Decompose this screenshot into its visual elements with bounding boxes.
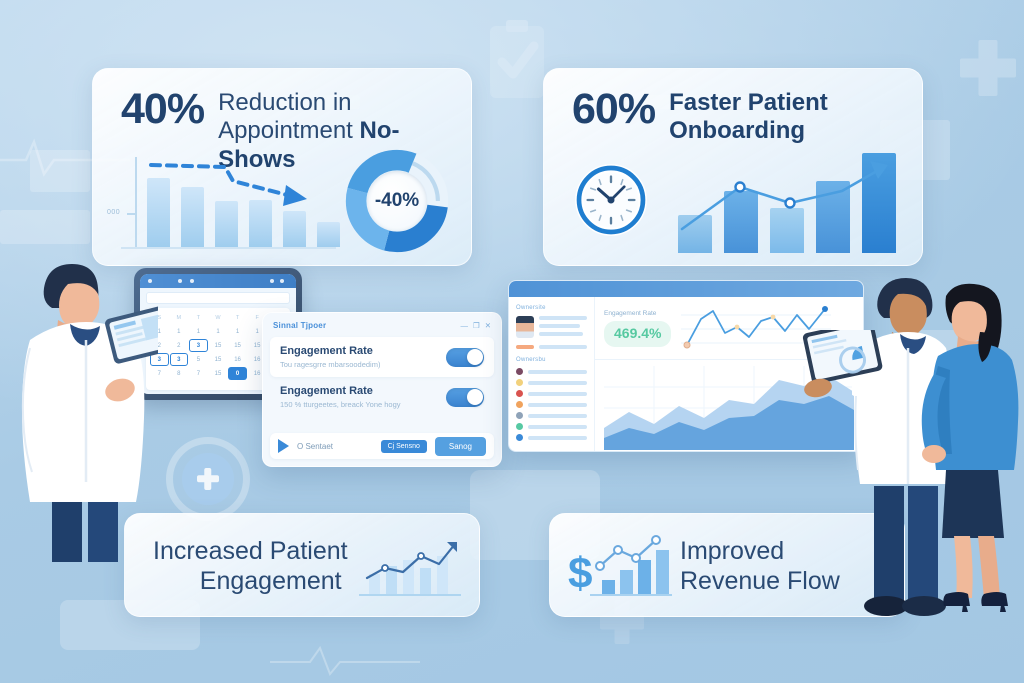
legend-color-dot xyxy=(516,401,523,408)
legend-label-placeholder xyxy=(528,414,587,418)
chart-x-axis xyxy=(121,247,336,249)
stat-line-1: Reduction in xyxy=(218,89,351,116)
legend-item[interactable] xyxy=(516,401,587,408)
play-icon[interactable] xyxy=(278,439,289,453)
legend-color-dot xyxy=(516,412,523,419)
medical-cross-icon xyxy=(960,40,1016,96)
restore-icon[interactable]: ❐ xyxy=(473,321,480,330)
setting-row[interactable]: Engagement Rate 150 % tturgeetes, breack… xyxy=(270,383,494,417)
card-faster-onboarding: 60% Faster Patient Onboarding xyxy=(543,68,923,266)
chart-y-tick xyxy=(127,213,136,215)
calendar-day[interactable]: 3 xyxy=(170,353,189,366)
doctor-left-figure xyxy=(8,262,158,562)
dashboard-topbar xyxy=(509,281,863,297)
setting-text: Engagement Rate 150 % tturgeetes, breack… xyxy=(280,385,401,409)
legend-label-placeholder xyxy=(528,425,587,429)
window-controls[interactable]: — ❐ ✕ xyxy=(460,321,491,330)
calendar-weekday: M xyxy=(170,311,189,324)
benefit-line-2: Revenue Flow xyxy=(680,567,840,595)
placeholder-line xyxy=(539,316,587,320)
footer-text: O Sentaet xyxy=(297,442,373,451)
calendar-day[interactable]: 16 xyxy=(228,353,247,366)
legend-item[interactable] xyxy=(516,434,587,441)
benefit-line-2: Engagement xyxy=(153,566,348,596)
placeholder-line xyxy=(539,324,580,328)
close-icon[interactable]: ✕ xyxy=(485,321,491,330)
metric-value: 469.4% xyxy=(614,325,661,341)
calendar-day[interactable]: 1 xyxy=(189,325,208,338)
calendar-day[interactable]: 1 xyxy=(228,325,247,338)
setting-text: Engagement Rate Tou ragesgrre mbarsooded… xyxy=(280,345,380,369)
calendar-day[interactable]: 15 xyxy=(209,353,228,366)
calendar-day[interactable]: 3 xyxy=(189,339,208,352)
card-reduction-noshows: 40% Reduction in Appointment No-Shows 00… xyxy=(92,68,472,266)
metric-pill: 469.4% xyxy=(604,321,671,347)
legend-color-dot xyxy=(516,379,523,386)
stat-description: Faster Patient Onboarding xyxy=(669,87,828,146)
topbar-dot xyxy=(270,279,274,283)
infographic-canvas: 40% Reduction in Appointment No-Shows 00… xyxy=(0,0,1024,683)
medical-cross-badge xyxy=(166,437,250,521)
declining-trend-arrow-icon xyxy=(145,157,345,227)
setting-row[interactable]: Engagement Rate Tou ragesgrre mbarsooded… xyxy=(270,337,494,377)
calendar-day[interactable]: 5 xyxy=(189,353,208,366)
minimize-icon[interactable]: — xyxy=(460,321,468,330)
avatar xyxy=(516,316,534,338)
legend-label-placeholder xyxy=(528,370,587,374)
benefit-label: Increased Patient Engagement xyxy=(153,536,348,596)
legend-label-placeholder xyxy=(528,381,587,385)
calendar-day[interactable]: 15 xyxy=(209,339,228,352)
right-doctor-tablet xyxy=(796,330,886,406)
legend-item[interactable] xyxy=(516,423,587,430)
calendar-day[interactable]: 15 xyxy=(228,339,247,352)
chart-y-axis xyxy=(135,157,137,247)
ecg-line-icon xyxy=(270,640,420,680)
calendar-day[interactable]: 15 xyxy=(209,367,228,380)
calendar-day[interactable]: 1 xyxy=(209,325,228,338)
legend-color-dot xyxy=(516,390,523,397)
donut-value: -40% xyxy=(375,190,419,212)
tablet-search-input[interactable] xyxy=(146,292,290,304)
currency-symbol: $ xyxy=(568,549,592,598)
calendar-weekday: T xyxy=(228,311,247,324)
clipboard-check-icon xyxy=(482,18,552,104)
stat-line-1: Faster Patient xyxy=(669,89,828,116)
stat-value: 60% xyxy=(572,87,655,132)
legend-label-placeholder xyxy=(528,436,587,440)
clock-icon xyxy=(572,161,650,239)
panel-title: Sinnal Tjpoer xyxy=(273,321,326,330)
calendar-day[interactable]: 1 xyxy=(170,325,189,338)
metric-title: Engagement Rate xyxy=(604,310,671,317)
chart-y-tick-label: 000 xyxy=(107,209,120,216)
onboarding-growth-chart xyxy=(672,151,904,261)
save-button[interactable]: Sanog xyxy=(435,437,486,456)
legend-item[interactable] xyxy=(516,379,587,386)
patient-row[interactable] xyxy=(516,316,587,340)
placeholder-line xyxy=(539,345,587,349)
topbar-dot xyxy=(178,279,182,283)
stat-line-2: Appointment xyxy=(218,117,359,144)
donut-center: -40% xyxy=(367,171,427,231)
patient-lines xyxy=(539,316,587,340)
stat-line-2: Onboarding xyxy=(669,117,805,144)
footer-chip[interactable]: Cj Sensno xyxy=(381,440,427,453)
calendar-day[interactable]: 8 xyxy=(170,367,189,380)
setting-toggle[interactable] xyxy=(446,348,484,367)
badge-inner xyxy=(182,453,234,505)
revenue-growth-icon: $ xyxy=(566,532,674,602)
legend-color-dot xyxy=(516,423,523,430)
benefit-label: Improved Revenue Flow xyxy=(680,536,840,596)
businesswoman-figure xyxy=(920,282,1024,622)
dashboard-sidebar[interactable]: Ownersite Ownersbu xyxy=(509,297,595,451)
calendar-day[interactable]: 2 xyxy=(170,339,189,352)
calendar-day[interactable]: 7 xyxy=(189,367,208,380)
toggle-knob xyxy=(467,389,483,405)
topbar-dot xyxy=(190,279,194,283)
legend-item[interactable] xyxy=(516,412,587,419)
benefit-line-1: Improved xyxy=(680,537,784,565)
legend-list[interactable] xyxy=(516,368,587,441)
panel-header: Sinnal Tjpoer — ❐ ✕ xyxy=(263,313,501,337)
rising-trend-line-icon xyxy=(672,151,904,261)
legend-label-placeholder xyxy=(528,392,587,396)
stat-value: 40% xyxy=(121,87,204,132)
calendar-day[interactable]: 0 xyxy=(228,367,247,380)
noshows-bar-chart: 000 xyxy=(121,157,336,257)
panel-footer: O Sentaet Cj Sensno Sanog xyxy=(270,433,494,459)
legend-item[interactable] xyxy=(516,368,587,375)
setting-sublabel: 150 % tturgeetes, breack Yone hogy xyxy=(280,400,401,409)
setting-label: Engagement Rate xyxy=(280,385,401,397)
bg-rect xyxy=(0,210,90,244)
status-badge xyxy=(516,345,534,349)
metric-text: Engagement Rate 469.4% xyxy=(604,310,671,347)
toggle-knob xyxy=(467,349,483,365)
benefit-line-1: Increased Patient xyxy=(153,537,348,565)
calendar-weekday: T xyxy=(189,311,208,324)
setting-toggle[interactable] xyxy=(446,388,484,407)
card-heading: 60% Faster Patient Onboarding xyxy=(572,87,906,146)
placeholder-line xyxy=(539,332,583,336)
status-row xyxy=(516,345,587,349)
card-increased-engagement: Increased Patient Engagement xyxy=(124,513,480,617)
setting-label: Engagement Rate xyxy=(280,345,380,357)
legend-item[interactable] xyxy=(516,390,587,397)
legend-label-placeholder xyxy=(528,403,587,407)
tablet-topbar xyxy=(140,274,296,288)
topbar-dot xyxy=(280,279,284,283)
sidebar-title: Ownersbu xyxy=(516,357,587,363)
calendar-weekday: W xyxy=(209,311,228,324)
noshows-donut-chart: -40% xyxy=(343,147,451,255)
setting-sublabel: Tou ragesgrre mbarsoodedim) xyxy=(280,360,380,369)
legend-color-dot xyxy=(516,368,523,375)
legend-color-dot xyxy=(516,434,523,441)
engagement-growth-icon xyxy=(353,538,465,600)
sidebar-title: Ownersite xyxy=(516,305,587,311)
cross-icon xyxy=(197,468,219,490)
settings-panel: Sinnal Tjpoer — ❐ ✕ Engagement Rate Tou … xyxy=(262,312,502,467)
